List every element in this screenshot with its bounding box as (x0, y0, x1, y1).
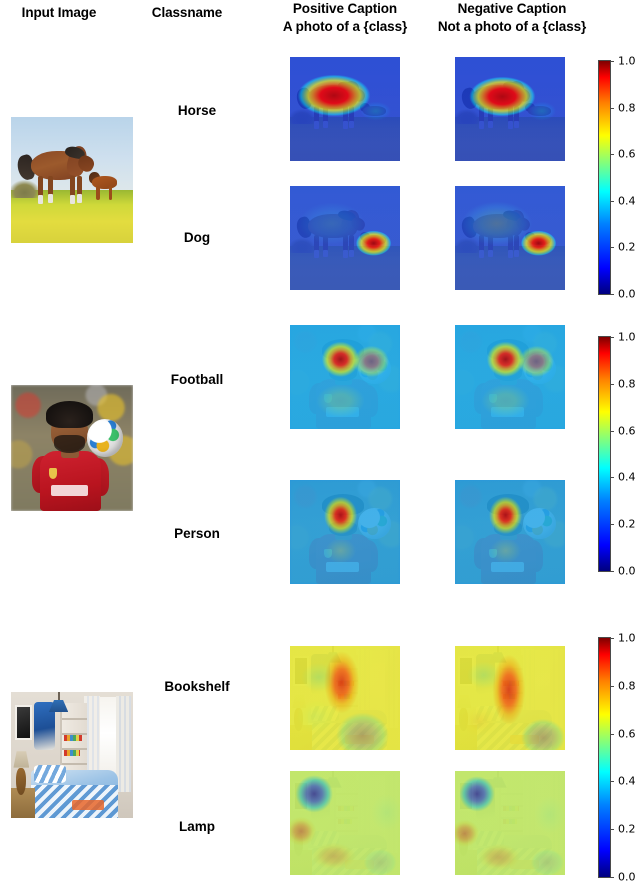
classname-label-lamp: Lamp (127, 819, 267, 834)
colorbar-tick-2-0: 1.0 (618, 331, 636, 344)
classname-label-horse: Horse (127, 103, 267, 118)
scene-bedroom (11, 692, 133, 818)
heat-overlay (290, 57, 400, 161)
heat-overlay (455, 480, 565, 584)
player-beard (54, 435, 86, 453)
colorbar-tick-1-3: 0.4 (618, 194, 636, 207)
classname-label-football: Football (127, 372, 267, 387)
heatmap-horse-positive (290, 57, 400, 161)
classname-text: Lamp (179, 819, 215, 834)
colorbar-group-2: 1.0 0.8 0.6 0.4 0.2 0.0 (598, 336, 611, 572)
header-positive-caption-line1: Positive Caption (293, 1, 397, 16)
heat-overlay (455, 57, 565, 161)
heatmap-person-negative (455, 480, 565, 584)
player-hair (46, 401, 92, 427)
scene-horse-dog (11, 117, 133, 243)
classname-text: Person (174, 526, 220, 541)
header-classname-line1: Classname (152, 5, 222, 20)
duvet-graphic (72, 800, 104, 810)
football (87, 419, 124, 457)
colorbar-tick-1-5: 0.0 (618, 288, 636, 301)
heatmap-person-positive (290, 480, 400, 584)
colorbar-tick-3-4: 0.2 (618, 823, 636, 836)
pillow (34, 765, 66, 783)
header-negative-caption: Negative Caption Not a photo of a {class… (427, 0, 597, 36)
heat-overlay (290, 480, 400, 584)
header-negative-caption-line2: Not a photo of a {class} (427, 18, 597, 36)
heatmap-lamp-negative (455, 771, 565, 875)
colorbar-tick-3-0: 1.0 (618, 632, 636, 645)
colorbar-tick-1-1: 0.8 (618, 101, 636, 114)
classname-label-dog: Dog (127, 230, 267, 245)
horse-leg (38, 176, 43, 204)
colorbar-tick-3-2: 0.6 (618, 727, 636, 740)
classname-text: Horse (178, 103, 216, 118)
header-negative-caption-line1: Negative Caption (458, 1, 567, 16)
dog-leg (96, 186, 100, 200)
classname-text: Bookshelf (164, 679, 229, 694)
colorbar-tick-3-3: 0.4 (618, 775, 636, 788)
colorbar-tick-1-2: 0.6 (618, 148, 636, 161)
heat-overlay (455, 771, 565, 875)
heat-overlay (455, 325, 565, 429)
header-classname: Classname (127, 4, 247, 22)
scene-footballer (11, 385, 133, 511)
input-image-bedroom (11, 692, 133, 818)
colorbar-tick-2-3: 0.4 (618, 471, 636, 484)
colorbar-tick-3-5: 0.0 (618, 871, 636, 884)
heat-overlay (290, 771, 400, 875)
jersey-sponsor (51, 485, 88, 496)
colorbar-tick-1-0: 1.0 (618, 55, 636, 68)
colorbar-tick-2-4: 0.2 (618, 518, 636, 531)
heatmap-dog-positive (290, 186, 400, 290)
colorbar-group-1: 1.0 0.8 0.6 0.4 0.2 0.0 (598, 60, 611, 295)
guitar (16, 768, 26, 796)
wall-poster (15, 705, 32, 740)
colorbar-group-3: 1.0 0.8 0.6 0.4 0.2 0.0 (598, 637, 611, 878)
figure-root: Input Image Classname Positive Caption A… (0, 0, 640, 888)
bush (11, 180, 40, 198)
heatmap-bookshelf-negative (455, 646, 565, 750)
colorbar-tick-2-2: 0.6 (618, 424, 636, 437)
heatmap-bookshelf-positive (290, 646, 400, 750)
horse-leg (70, 176, 75, 204)
colorbar-tick-3-1: 0.8 (618, 679, 636, 692)
heatmap-football-positive (290, 325, 400, 429)
classname-label-person: Person (127, 526, 267, 541)
curtain-right (116, 696, 131, 792)
heat-overlay (455, 186, 565, 290)
heat-overlay (290, 646, 400, 750)
classname-text: Football (171, 372, 224, 387)
header-positive-caption-line2: A photo of a {class} (270, 18, 420, 36)
heat-overlay (455, 646, 565, 750)
colorbar-tick-2-5: 0.0 (618, 565, 636, 578)
heat-overlay (290, 325, 400, 429)
header-input-image-line1: Input Image (22, 5, 97, 20)
player-jersey (40, 451, 101, 511)
horse-leg (48, 176, 53, 202)
horse-leg (77, 176, 82, 202)
heatmap-lamp-positive (290, 771, 400, 875)
heatmap-horse-negative (455, 57, 565, 161)
lamp-cord (58, 692, 60, 701)
classname-label-bookshelf: Bookshelf (127, 679, 267, 694)
colorbar-tick-1-4: 0.2 (618, 241, 636, 254)
heatmap-football-negative (455, 325, 565, 429)
dog-leg (109, 186, 113, 200)
heatmap-dog-negative (455, 186, 565, 290)
header-positive-caption: Positive Caption A photo of a {class} (270, 0, 420, 36)
input-image-horse-dog (11, 117, 133, 243)
dog-body (92, 176, 118, 189)
colorbar-tick-2-1: 0.8 (618, 377, 636, 390)
classname-text: Dog (184, 230, 210, 245)
header-input-image: Input Image (0, 4, 124, 22)
input-image-footballer (11, 385, 133, 511)
heat-overlay (290, 186, 400, 290)
